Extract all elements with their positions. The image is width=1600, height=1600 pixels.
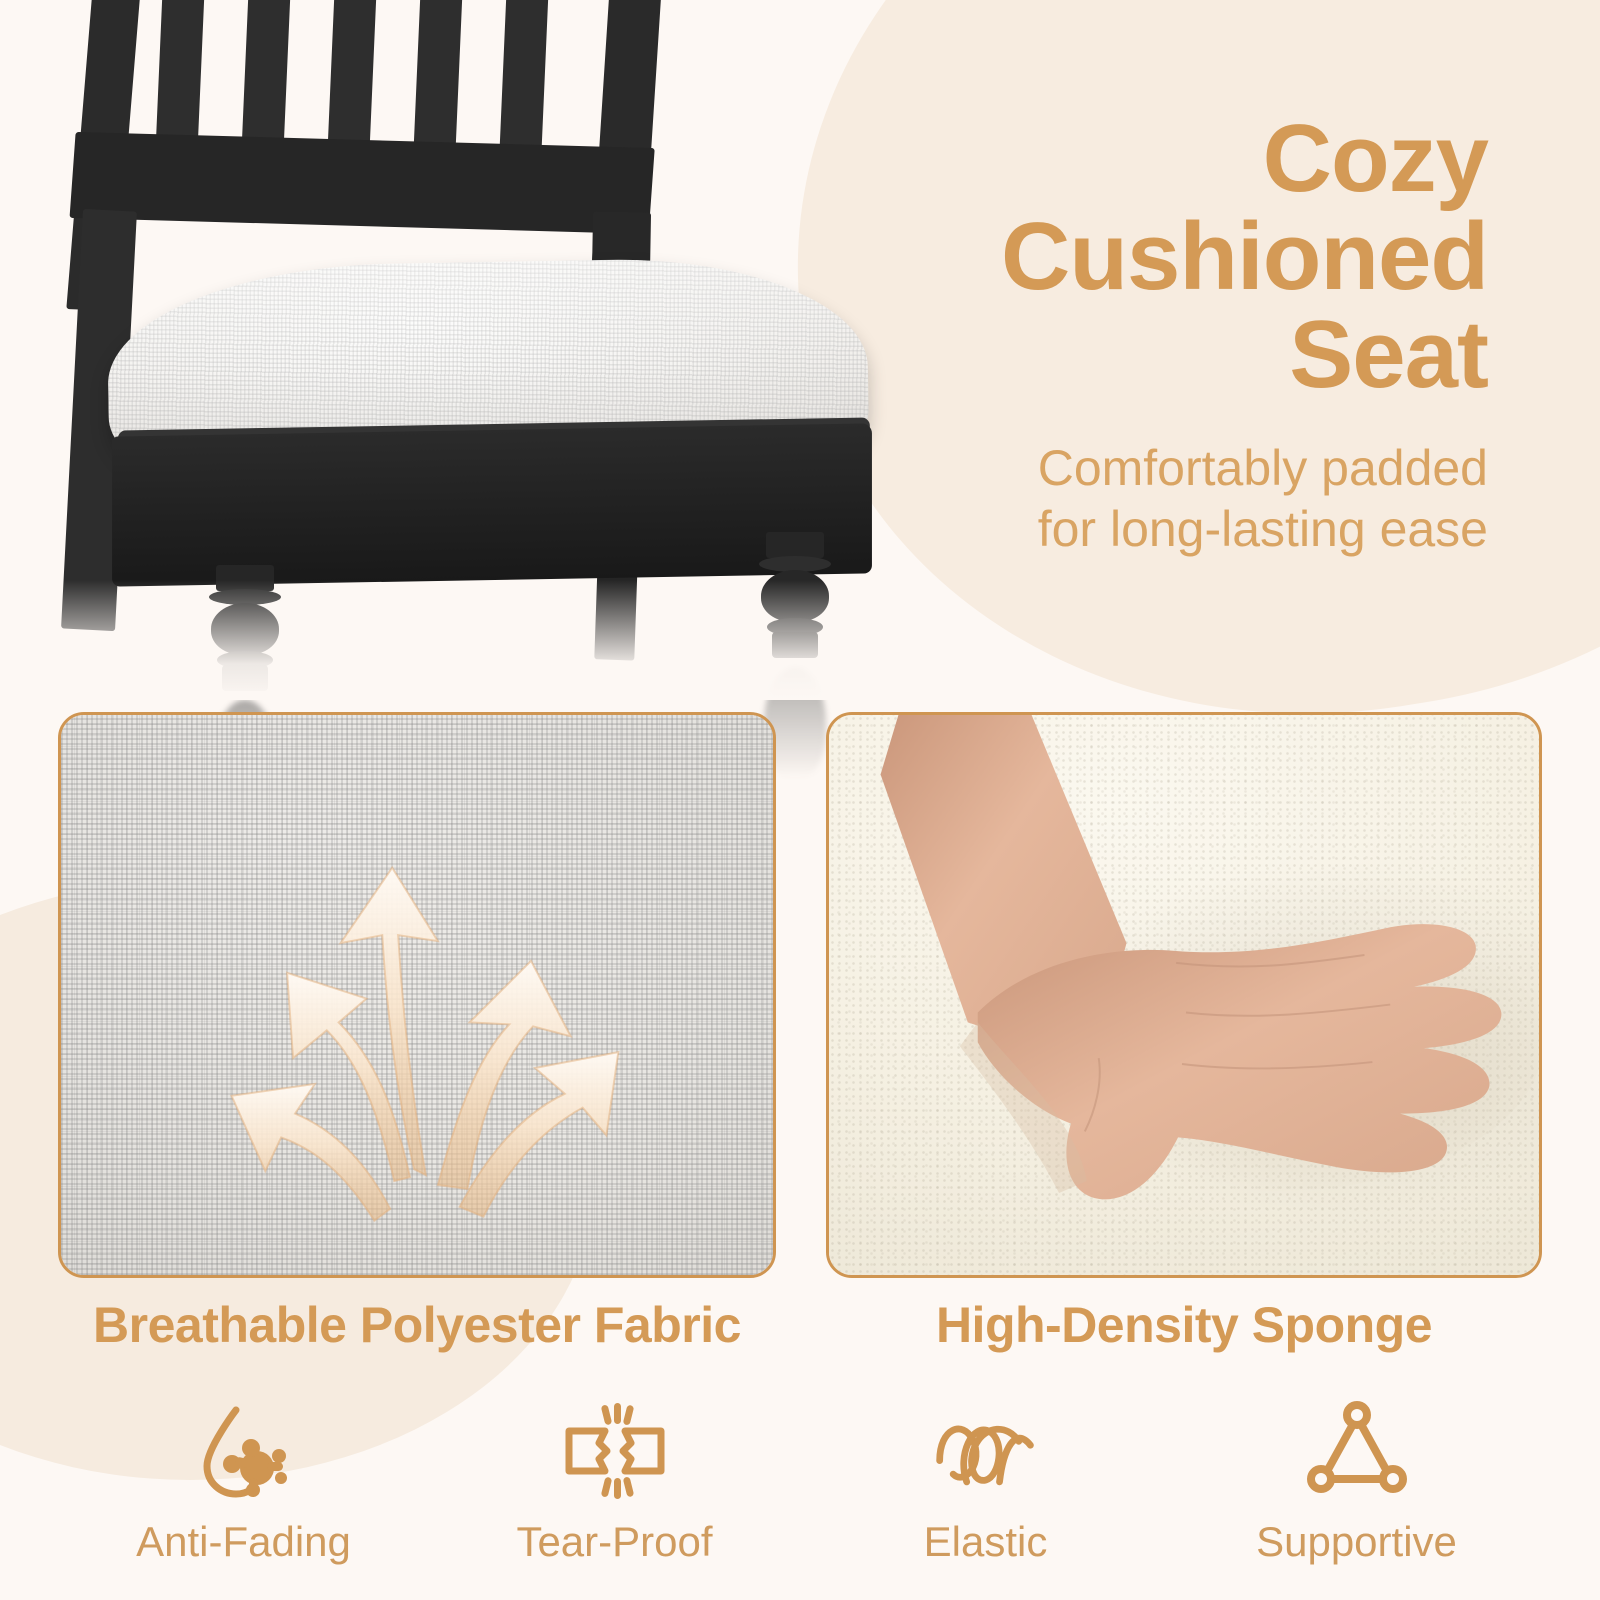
spring-wave-icon (930, 1396, 1042, 1506)
chair-backrest (53, 0, 646, 290)
feature-tear-proof: Tear-Proof (429, 1396, 800, 1566)
feature-panel-fabric (58, 712, 776, 1278)
subtitle-line-2: for long-lasting ease (848, 499, 1488, 560)
feature-icon-row: Anti-Fading (58, 1396, 1542, 1566)
hero-section: Cozy Cushioned Seat Comfortably padded f… (0, 0, 1600, 700)
feature-label: Supportive (1256, 1518, 1457, 1566)
headline-line-1: Cozy (848, 110, 1488, 208)
hero-bottom-fade (0, 580, 900, 700)
feature-label: Elastic (924, 1518, 1048, 1566)
feature-panel-sponge (826, 712, 1542, 1278)
airflow-arrows-icon (61, 715, 773, 1276)
panel-caption-fabric: Breathable Polyester Fabric (58, 1292, 776, 1358)
chair-slat (327, 0, 377, 160)
chair-slat (499, 0, 549, 160)
feature-supportive: Supportive (1171, 1396, 1542, 1566)
page-title: Cozy Cushioned Seat (848, 110, 1488, 404)
chair-back-rail (70, 132, 655, 234)
subtitle-line-1: Comfortably padded (848, 438, 1488, 499)
torn-fabric-icon (559, 1396, 671, 1506)
subtitle: Comfortably padded for long-lasting ease (848, 438, 1488, 560)
feature-label: Anti-Fading (136, 1518, 351, 1566)
chair-slat (413, 0, 463, 160)
panel-caption-sponge: High-Density Sponge (826, 1292, 1542, 1358)
headline-line-3: Seat (848, 306, 1488, 404)
triangle-nodes-icon (1301, 1396, 1413, 1506)
product-feature-page: Cozy Cushioned Seat Comfortably padded f… (0, 0, 1600, 1600)
feature-label: Tear-Proof (516, 1518, 712, 1566)
feature-anti-fading: Anti-Fading (58, 1396, 429, 1566)
product-photo-chair (0, 0, 900, 700)
headline-line-2: Cushioned (848, 208, 1488, 306)
feature-elastic: Elastic (800, 1396, 1171, 1566)
headline-block: Cozy Cushioned Seat Comfortably padded f… (848, 110, 1488, 560)
water-drop-splash-icon (188, 1396, 300, 1506)
chair-seat-apron (112, 423, 872, 586)
hand-pressing-foam-image (829, 715, 1539, 1276)
